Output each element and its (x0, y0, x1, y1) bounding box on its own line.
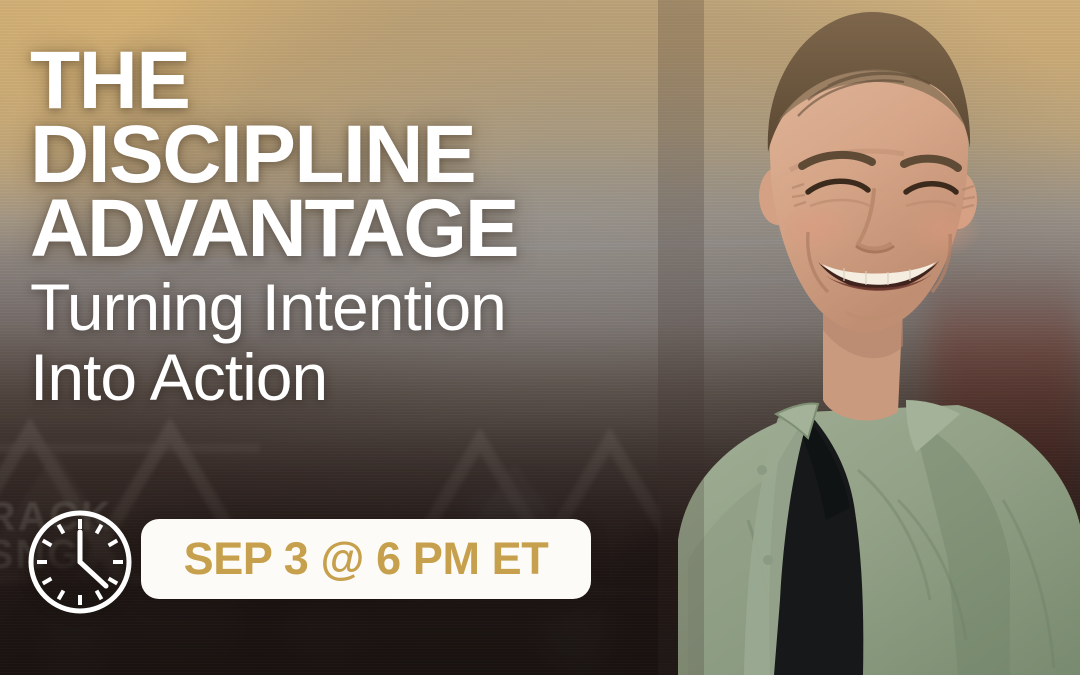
headline-block: THE DISCIPLINE ADVANTAGE Turning Intenti… (30, 44, 730, 413)
date-badge-label: SEP 3 @ 6 PM ET (184, 533, 549, 585)
headline-line-2: DISCIPLINE (30, 118, 730, 192)
subheadline: Turning Intention Into Action (30, 273, 730, 413)
promo-banner: RACK SNG (0, 0, 1080, 675)
headline-line-3: ADVANTAGE (30, 192, 730, 266)
date-badge[interactable]: SEP 3 @ 6 PM ET (141, 519, 591, 599)
subheadline-line-1: Turning Intention (30, 273, 730, 343)
subheadline-line-2: Into Action (30, 343, 730, 413)
clock-icon (24, 506, 136, 618)
headline-line-1: THE (30, 44, 730, 118)
